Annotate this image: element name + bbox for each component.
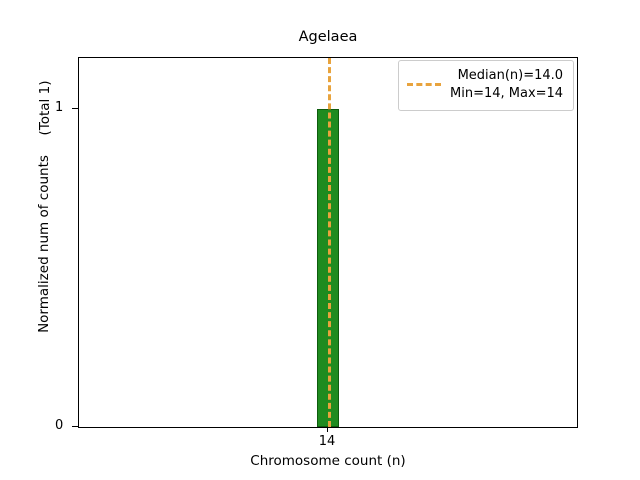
chart-figure: Agelaea Normalized num of counts (Total … bbox=[0, 0, 640, 480]
x-tick-mark-14 bbox=[327, 428, 328, 432]
page-title: Agelaea bbox=[78, 29, 578, 45]
y-axis-label-line2: (Total 1) bbox=[37, 53, 53, 163]
legend-entry-median: Median(n)=14.0 Min=14, Max=14 bbox=[407, 67, 565, 103]
plot-area bbox=[78, 57, 578, 428]
legend-label-median: Median(n)=14.0 bbox=[458, 67, 564, 85]
legend-entry-labels: Median(n)=14.0 Min=14, Max=14 bbox=[450, 67, 563, 103]
legend-label-minmax: Min=14, Max=14 bbox=[450, 85, 563, 103]
x-axis-label: Chromosome count (n) bbox=[78, 453, 578, 469]
x-tick-label-14: 14 bbox=[319, 434, 336, 449]
legend-dashed-line-icon bbox=[407, 83, 441, 86]
chart-legend: Median(n)=14.0 Min=14, Max=14 bbox=[398, 60, 574, 111]
median-line bbox=[328, 58, 331, 427]
y-axis-label: Normalized num of counts (Total 1) bbox=[0, 0, 78, 480]
